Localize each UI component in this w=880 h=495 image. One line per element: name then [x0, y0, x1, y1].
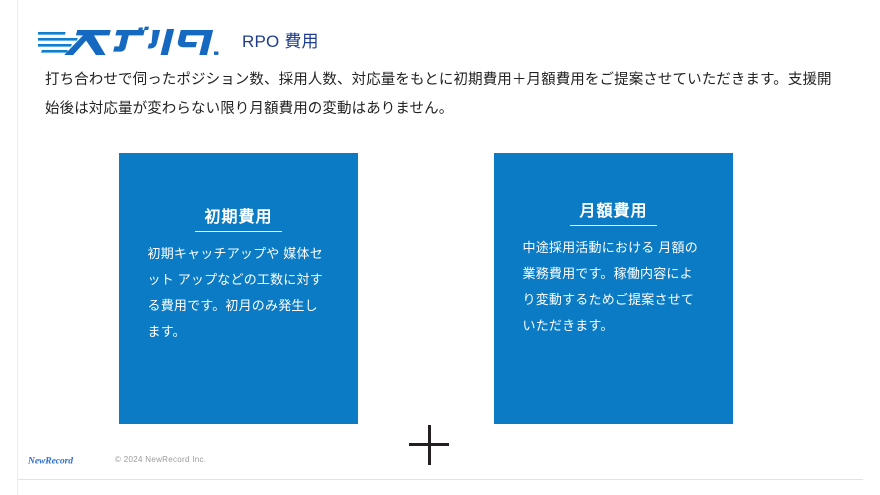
cost-breakdown-group: 初期費用 初期キャッチアップや 媒体セット アップなどの工数に対する費用です。初… — [0, 153, 880, 425]
footer-copyright: © 2024 NewRecord Inc. — [115, 456, 206, 464]
card-body-initial-cost: 初期キャッチアップや 媒体セット アップなどの工数に対する費用です。初月のみ発生… — [148, 241, 330, 345]
slide-canvas: RPO 費用 打ち合わせで伺ったポジション数、採用人数、対応量をもとに初期費用＋… — [0, 0, 880, 495]
slide-header: RPO 費用 — [38, 24, 319, 60]
page-title: RPO 費用 — [242, 33, 319, 52]
card-monthly-cost: 月額費用 中途採用活動における 月額の業務費用です。稼働内容により変動するためご… — [494, 153, 733, 424]
lead-paragraph: 打ち合わせで伺ったポジション数、採用人数、対応量をもとに初期費用＋月額費用をご提… — [45, 66, 835, 124]
slide-footer: NewRecord © 2024 NewRecord Inc. — [28, 454, 206, 466]
card-initial-cost: 初期費用 初期キャッチアップや 媒体セット アップなどの工数に対する費用です。初… — [119, 153, 358, 424]
plus-icon — [409, 425, 449, 465]
sugurik-logo — [38, 25, 224, 59]
footer-divider — [18, 479, 863, 480]
card-heading-initial-cost: 初期費用 — [195, 207, 281, 232]
svg-text:NewRecord: NewRecord — [28, 455, 73, 466]
card-heading-monthly-cost: 月額費用 — [570, 201, 656, 226]
card-body-monthly-cost: 中途採用活動における 月額の業務費用です。稼働内容により変動するためご提案させて… — [523, 235, 705, 339]
newrecord-logo: NewRecord — [28, 454, 102, 466]
